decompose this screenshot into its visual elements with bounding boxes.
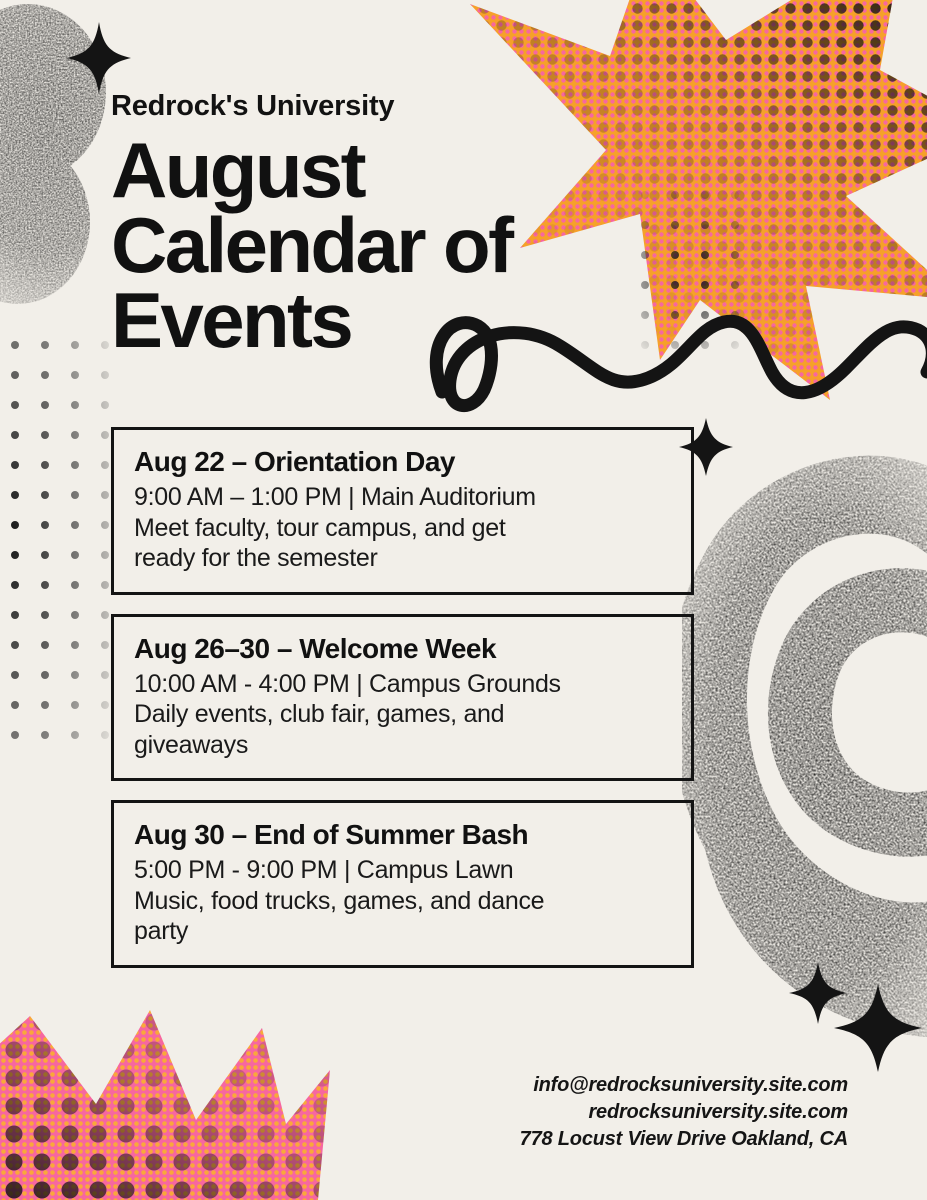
event-card[interactable]: Aug 30 – End of Summer Bash 5:00 PM - 9:…	[111, 800, 694, 968]
event-description-line: giveaways	[134, 730, 671, 761]
event-card[interactable]: Aug 22 – Orientation Day 9:00 AM – 1:00 …	[111, 427, 694, 595]
event-schedule: 10:00 AM - 4:00 PM | Campus Grounds	[134, 669, 671, 700]
event-schedule: 5:00 PM - 9:00 PM | Campus Lawn	[134, 855, 671, 886]
contact-block: info@redrocksuniversity.site.com redrock…	[520, 1072, 848, 1153]
page-title-line-3: Events	[111, 283, 631, 358]
content-layer: Redrock's University August Calendar of …	[0, 0, 927, 1200]
contact-address: 778 Locust View Drive Oakland, CA	[520, 1126, 848, 1153]
event-schedule: 9:00 AM – 1:00 PM | Main Auditorium	[134, 482, 671, 513]
event-description-line: Daily events, club fair, games, and	[134, 699, 671, 730]
event-description-line: Meet faculty, tour campus, and get	[134, 513, 671, 544]
event-title: Aug 30 – End of Summer Bash	[134, 819, 671, 851]
page-title: August Calendar of Events	[111, 133, 631, 358]
event-title: Aug 26–30 – Welcome Week	[134, 633, 671, 665]
event-description-line: Music, food trucks, games, and dance	[134, 886, 671, 917]
event-description-line: party	[134, 916, 671, 947]
event-card[interactable]: Aug 26–30 – Welcome Week 10:00 AM - 4:00…	[111, 614, 694, 782]
event-description-line: ready for the semester	[134, 543, 671, 574]
university-name: Redrock's University	[111, 90, 394, 123]
contact-email[interactable]: info@redrocksuniversity.site.com	[520, 1072, 848, 1099]
contact-website[interactable]: redrocksuniversity.site.com	[520, 1099, 848, 1126]
page-title-line-1: August	[111, 133, 631, 208]
event-list: Aug 22 – Orientation Day 9:00 AM – 1:00 …	[111, 427, 694, 987]
event-title: Aug 22 – Orientation Day	[134, 446, 671, 478]
page-title-line-2: Calendar of	[111, 208, 631, 283]
poster-canvas: Redrock's University August Calendar of …	[0, 0, 927, 1200]
